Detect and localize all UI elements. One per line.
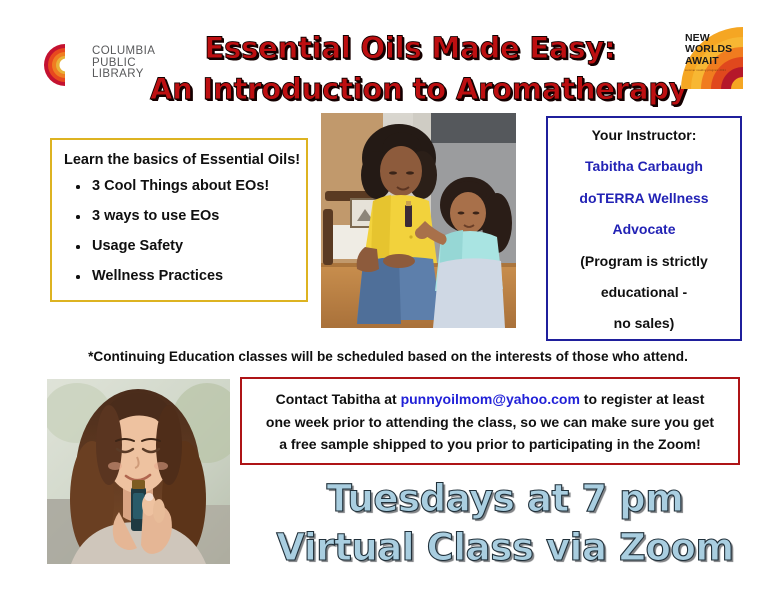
list-item: Wellness Practices [76, 268, 298, 284]
contact-line-1-prefix: Contact Tabitha at [276, 391, 401, 407]
campaign-wordmark: NEW WORLDS AWAIT [685, 33, 732, 67]
topics-box: Learn the basics of Essential Oils! 3 Co… [50, 138, 308, 302]
library-wordmark-line1: COLUMBIA [92, 46, 155, 58]
topics-list: 3 Cool Things about EOs! 3 ways to use E… [62, 178, 298, 284]
instructor-email-link[interactable]: punnyoilmom@yahoo.com [401, 391, 580, 407]
new-worlds-await-logo: NEW WORLDS AWAIT summer reading program … [681, 27, 743, 89]
continuing-education-note: *Continuing Education classes will be sc… [0, 349, 776, 364]
schedule-headline: Tuesdays at 7 pm Virtual Class via Zoom [250, 474, 760, 572]
instructor-name: Tabitha Carbaugh [554, 159, 734, 174]
schedule-line-2: Virtual Class via Zoom [250, 523, 760, 572]
library-wordmark-line3: LIBRARY [92, 69, 155, 81]
instructor-title-line-2: Advocate [554, 222, 734, 237]
instructor-title-line-1: doTERRA Wellness [554, 191, 734, 206]
contact-line-1: Contact Tabitha at punnyoilmom@yahoo.com… [250, 388, 730, 411]
instructor-disclaimer-line-1: (Program is strictly [554, 254, 734, 269]
list-item: 3 ways to use EOs [76, 208, 298, 224]
topics-heading: Learn the basics of Essential Oils! [64, 152, 298, 168]
list-item: Usage Safety [76, 238, 298, 254]
instructor-disclaimer-line-3: no sales) [554, 316, 734, 331]
instructor-label: Your Instructor: [554, 128, 734, 143]
photo-woman-with-oil-illustration [47, 379, 230, 564]
photo-mother-and-daughter-illustration [321, 113, 516, 328]
instructor-box: Your Instructor: Tabitha Carbaugh doTERR… [546, 116, 742, 341]
photo-woman-with-oil [47, 379, 230, 564]
library-arcs-icon [42, 42, 88, 88]
schedule-line-1: Tuesdays at 7 pm [250, 474, 760, 523]
contact-line-2: one week prior to attending the class, s… [250, 411, 730, 434]
flyer-title: Essential Oils Made Easy: An Introductio… [150, 28, 670, 110]
campaign-fine-print: summer reading program 2021 [685, 69, 726, 72]
list-item: 3 Cool Things about EOs! [76, 178, 298, 194]
campaign-wordmark-line2: WORLDS [685, 44, 732, 55]
campaign-wordmark-line3: AWAIT [685, 56, 732, 67]
photo-mother-and-daughter [321, 113, 516, 328]
contact-box: Contact Tabitha at punnyoilmom@yahoo.com… [240, 377, 740, 465]
title-line-2: An Introduction to Aromatherapy [150, 69, 670, 110]
library-wordmark: COLUMBIA PUBLIC LIBRARY [92, 46, 155, 81]
instructor-disclaimer-line-2: educational - [554, 285, 734, 300]
contact-line-3: a free sample shipped to you prior to pa… [250, 433, 730, 456]
title-line-1: Essential Oils Made Easy: [150, 28, 670, 69]
flyer-canvas: COLUMBIA PUBLIC LIBRARY NEW WORLDS AWAIT… [0, 0, 776, 600]
contact-line-1-suffix: to register at least [580, 391, 705, 407]
